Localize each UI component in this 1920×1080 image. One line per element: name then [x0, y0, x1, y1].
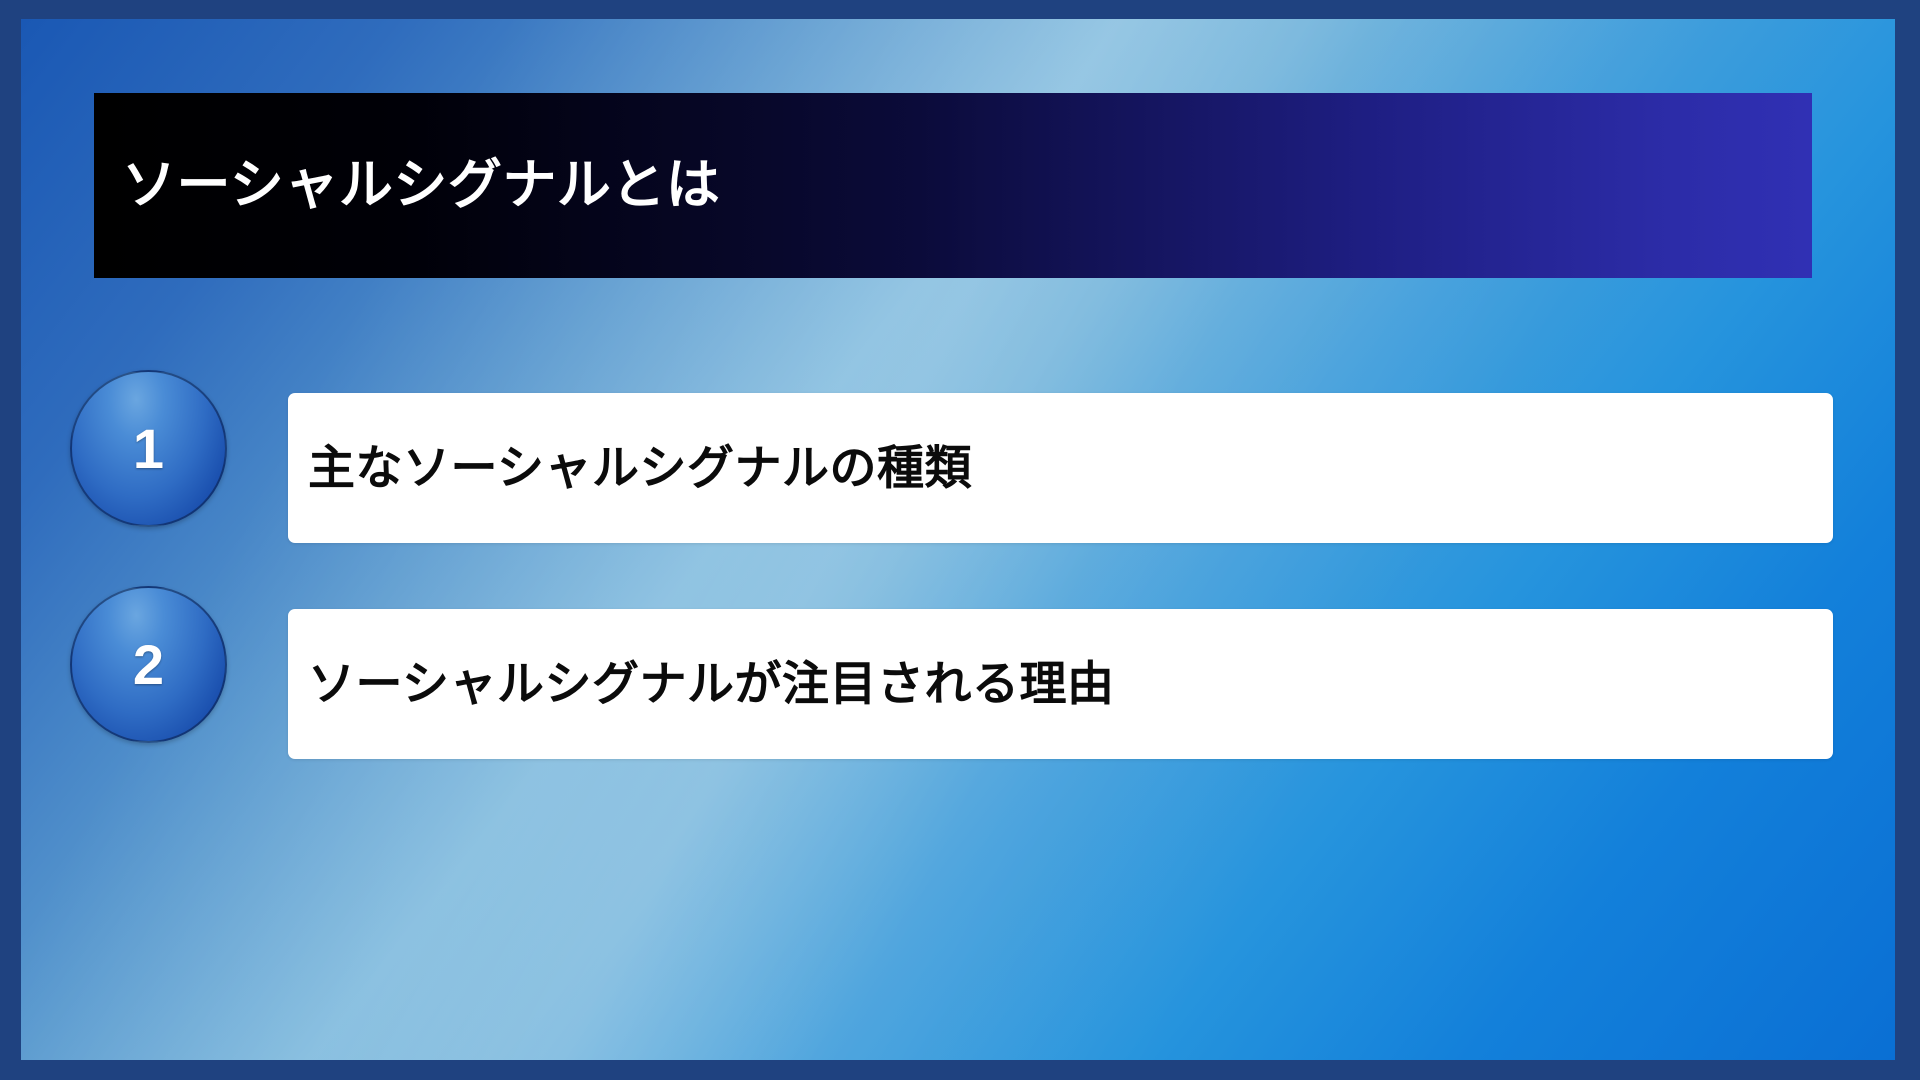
- slide-canvas: ソーシャルシグナルとは 1 主なソーシャルシグナルの種類 2 ソーシャルシグナル…: [21, 19, 1895, 1060]
- list-item[interactable]: 2 ソーシャルシグナルが注目される理由: [21, 590, 1895, 740]
- item-number-label: 2: [133, 637, 164, 693]
- item-number-badge: 2: [70, 586, 227, 743]
- item-card-label: 主なソーシャルシグナルの種類: [288, 440, 972, 496]
- item-number-badge: 1: [70, 370, 227, 527]
- item-card[interactable]: 主なソーシャルシグナルの種類: [288, 393, 1833, 543]
- list-item[interactable]: 1 主なソーシャルシグナルの種類: [21, 374, 1895, 524]
- item-card[interactable]: ソーシャルシグナルが注目される理由: [288, 609, 1833, 759]
- item-card-label: ソーシャルシグナルが注目される理由: [288, 656, 1115, 712]
- item-number-label: 1: [133, 421, 164, 477]
- agenda-list: 1 主なソーシャルシグナルの種類 2 ソーシャルシグナルが注目される理由: [21, 19, 1895, 1060]
- slide-root: ソーシャルシグナルとは 1 主なソーシャルシグナルの種類 2 ソーシャルシグナル…: [0, 0, 1920, 1080]
